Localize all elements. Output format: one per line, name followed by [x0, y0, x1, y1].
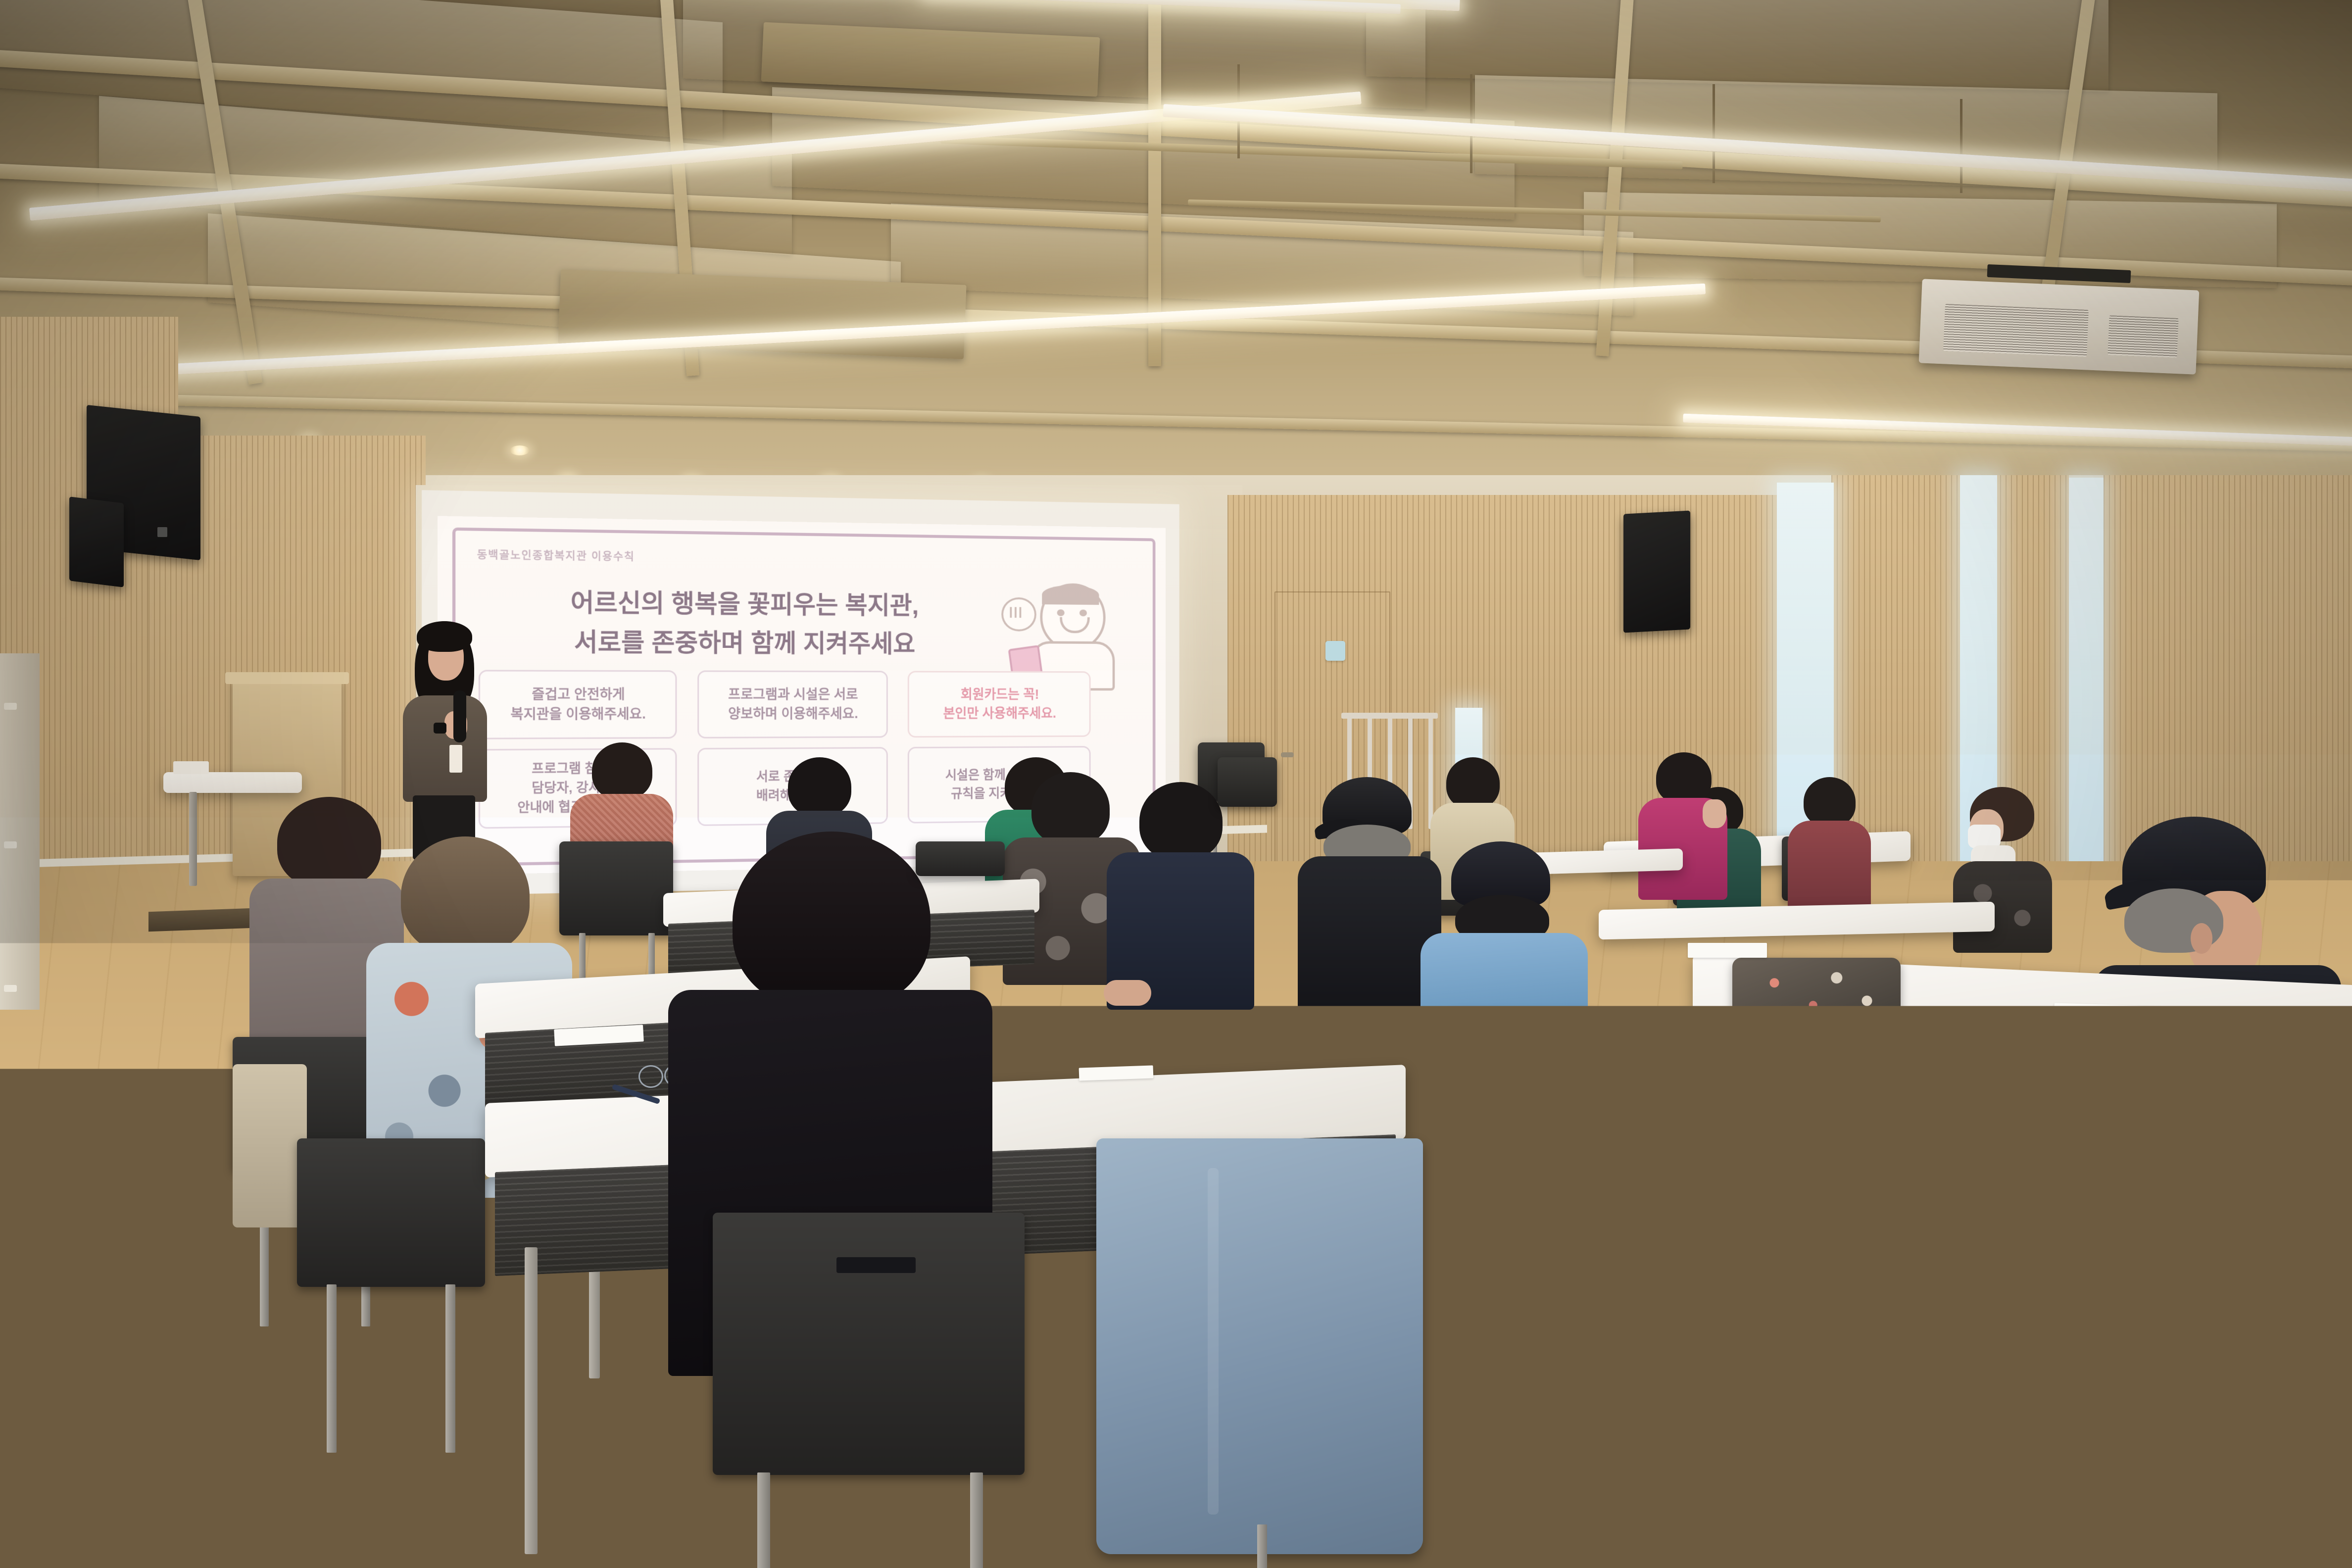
mascot-illustration	[997, 579, 1128, 686]
speaker-left-logo	[157, 527, 167, 537]
attendee-magenta-hand	[1703, 799, 1726, 828]
projector-vent-grille-2	[2107, 315, 2178, 358]
attendee-magenta	[1633, 752, 1732, 901]
chair-front-left-floral-leg2	[445, 1284, 455, 1453]
chair-front-left-floral	[297, 1138, 485, 1287]
chair-back-mid-left[interactable]	[916, 841, 1005, 876]
attendee-front-left-grey-hair	[277, 797, 381, 888]
attendee-back-red-plaid	[1782, 777, 1876, 916]
tote-bag-hanging	[233, 1064, 307, 1227]
attendee-center-navy-hair	[1139, 782, 1223, 860]
presenter-lanyard-badge	[449, 745, 462, 773]
slide-rule-box-1: 즐겁고 안전하게 복지관을 이용해주세요.	[479, 670, 677, 739]
slide-eyebrow-text: 동백골노인종합복지관 이용수칙	[477, 546, 635, 564]
seminar-room-photo: 동백골노인종합복지관 이용수칙 어르신의 행복을 꽃피우는 복지관, 서로를 존…	[0, 0, 2352, 1568]
rule-2-line-2: 양보하며 이용해주세요.	[728, 706, 858, 722]
chair-front-center[interactable]	[713, 1213, 1025, 1475]
chair-front-center-handle	[836, 1257, 916, 1273]
mascot-eye-left-icon	[1057, 609, 1065, 616]
denim-jacket-on-chair[interactable]	[1096, 1138, 1423, 1554]
cabinet-handle-2[interactable]	[4, 841, 17, 848]
mascot-eye-right-icon	[1079, 610, 1087, 617]
slide-title-line-2: 서로를 존중하며 함께 지켜주세요	[480, 623, 1002, 663]
presenter-wristwatch	[434, 723, 446, 734]
attendee-front-row-dark-hair	[788, 757, 851, 817]
chair-front-center-leg2	[970, 1472, 983, 1568]
ceiling-hanger-4	[1960, 99, 1962, 193]
door-handle[interactable]	[1281, 752, 1294, 757]
presenter-jacket	[403, 695, 487, 802]
attendee-center-navy-hand	[1104, 980, 1151, 1006]
attendee-magenta-hair	[1656, 752, 1712, 804]
smartphone[interactable]	[1910, 1064, 1998, 1099]
cabinet-handle-3[interactable]	[4, 985, 17, 992]
attendee-back-red-plaid-hair	[1804, 777, 1856, 827]
handout-paper-right[interactable]	[2054, 1003, 2163, 1027]
slide-title-line-1: 어르신의 행복을 꽃피우는 복지관,	[480, 583, 1002, 625]
mascot-bubble-lines-icon	[1010, 607, 1024, 618]
rule-1-line-2: 복지관을 이용해주세요.	[511, 706, 646, 722]
side-table-leg	[189, 792, 197, 886]
floral-backpack[interactable]	[1732, 958, 1901, 1029]
presenter-hair-front	[417, 621, 472, 652]
wall-sign-blue	[1325, 641, 1345, 661]
chair-far-back-left[interactable]	[1218, 757, 1277, 807]
chair-front-row-coral	[559, 841, 673, 935]
mascot-hair-icon	[1042, 585, 1099, 605]
handout-paper-mid[interactable]	[1688, 943, 1767, 958]
attendee-front-left-floral-hair	[401, 836, 530, 955]
side-table-left	[163, 772, 302, 793]
table-right-front-leg	[1762, 1163, 1776, 1470]
chair-denim-leg	[1257, 1524, 1267, 1568]
cabinet-handle-1[interactable]	[4, 703, 17, 710]
rule-2-line-1: 프로그램과 시설은 서로	[728, 687, 858, 702]
ceiling-hanger-3	[1713, 84, 1715, 183]
attendee-back-red-plaid-top	[1788, 821, 1871, 915]
chair-right-front-handle	[2128, 1242, 2203, 1256]
side-table-papers	[173, 761, 209, 774]
slide-rule-box-3: 회원카드는 꼭! 본인만 사용해주세요.	[908, 671, 1091, 737]
rule-1-line-1: 즐겁고 안전하게	[532, 686, 625, 702]
attendee-center-patterned-hair	[1031, 772, 1110, 845]
presenter-with-microphone	[391, 621, 500, 859]
chair-blue-shirt-leg	[1480, 1121, 1488, 1265]
attendee-beige-back-hair	[1446, 757, 1500, 809]
ceiling-beam-long-3	[1148, 0, 1161, 366]
chair-blue-shirt	[1450, 1010, 1599, 1124]
rule-3-line-2: 본인만 사용해주세요.	[943, 706, 1056, 721]
lectern-top	[225, 672, 349, 684]
projector-vent-grille	[1943, 304, 2089, 357]
chair-blue-shirt-handle	[1505, 1034, 1549, 1045]
rule-3-line-1: 회원카드는 꼭!	[961, 687, 1039, 702]
chair-front-center-leg	[757, 1472, 770, 1568]
attendee-cap-black-left-top	[1298, 856, 1441, 1025]
face-mask-icon	[1968, 825, 2001, 848]
chair-blue-shirt-leg2	[1564, 1121, 1572, 1265]
wall-speaker-right	[1623, 510, 1690, 633]
attendee-center-navy	[1104, 782, 1257, 1010]
attendee-front-center-black-hair	[733, 832, 931, 1010]
presenter-microphone	[453, 690, 466, 742]
chair-front-left-floral-leg	[327, 1284, 337, 1453]
attendee-cap-right-front-ear	[2191, 923, 2212, 954]
wall-speaker-left-lower	[69, 496, 124, 588]
downlight-3	[510, 445, 530, 455]
slide-rule-box-2: 프로그램과 시설은 서로 양보하며 이용해주세요.	[697, 670, 888, 738]
attendee-front-row-coral-hair	[592, 742, 652, 799]
table-front-center-leg	[525, 1247, 538, 1554]
handout-paper-center[interactable]	[1079, 1065, 1154, 1080]
eyeglasses-lens-left	[638, 1065, 663, 1088]
chair-right-front	[2069, 1208, 2346, 1445]
denim-jacket-fold	[1208, 1168, 1219, 1515]
